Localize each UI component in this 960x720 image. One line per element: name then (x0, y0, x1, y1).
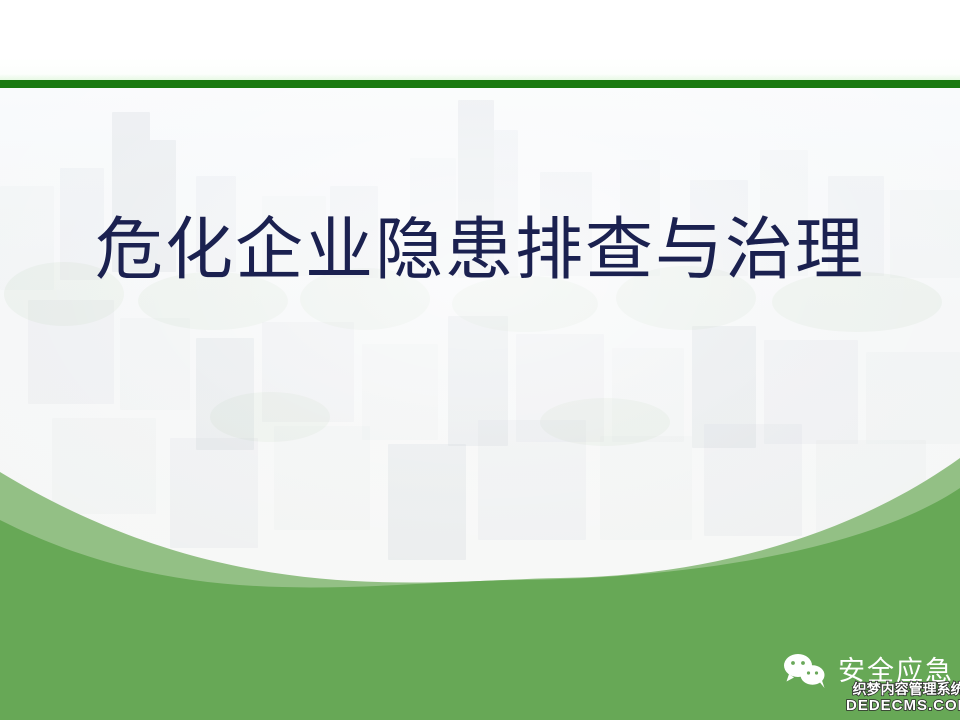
slide-title: 危化企业隐患排查与治理 (0, 214, 960, 287)
dedecms-watermark: 织梦内容管理系统 DEDECMS.COM (846, 682, 960, 713)
watermark-line-en: DEDECMS.COM (846, 698, 960, 713)
top-green-rule (0, 80, 960, 88)
watermark-line-cn: 织梦内容管理系统 (846, 682, 960, 696)
slide-canvas: 危化企业隐患排查与治理 安全应急 织梦内容管理系统 DEDECMS.COM (0, 0, 960, 720)
wechat-icon (782, 652, 828, 690)
top-white-band (0, 0, 960, 80)
